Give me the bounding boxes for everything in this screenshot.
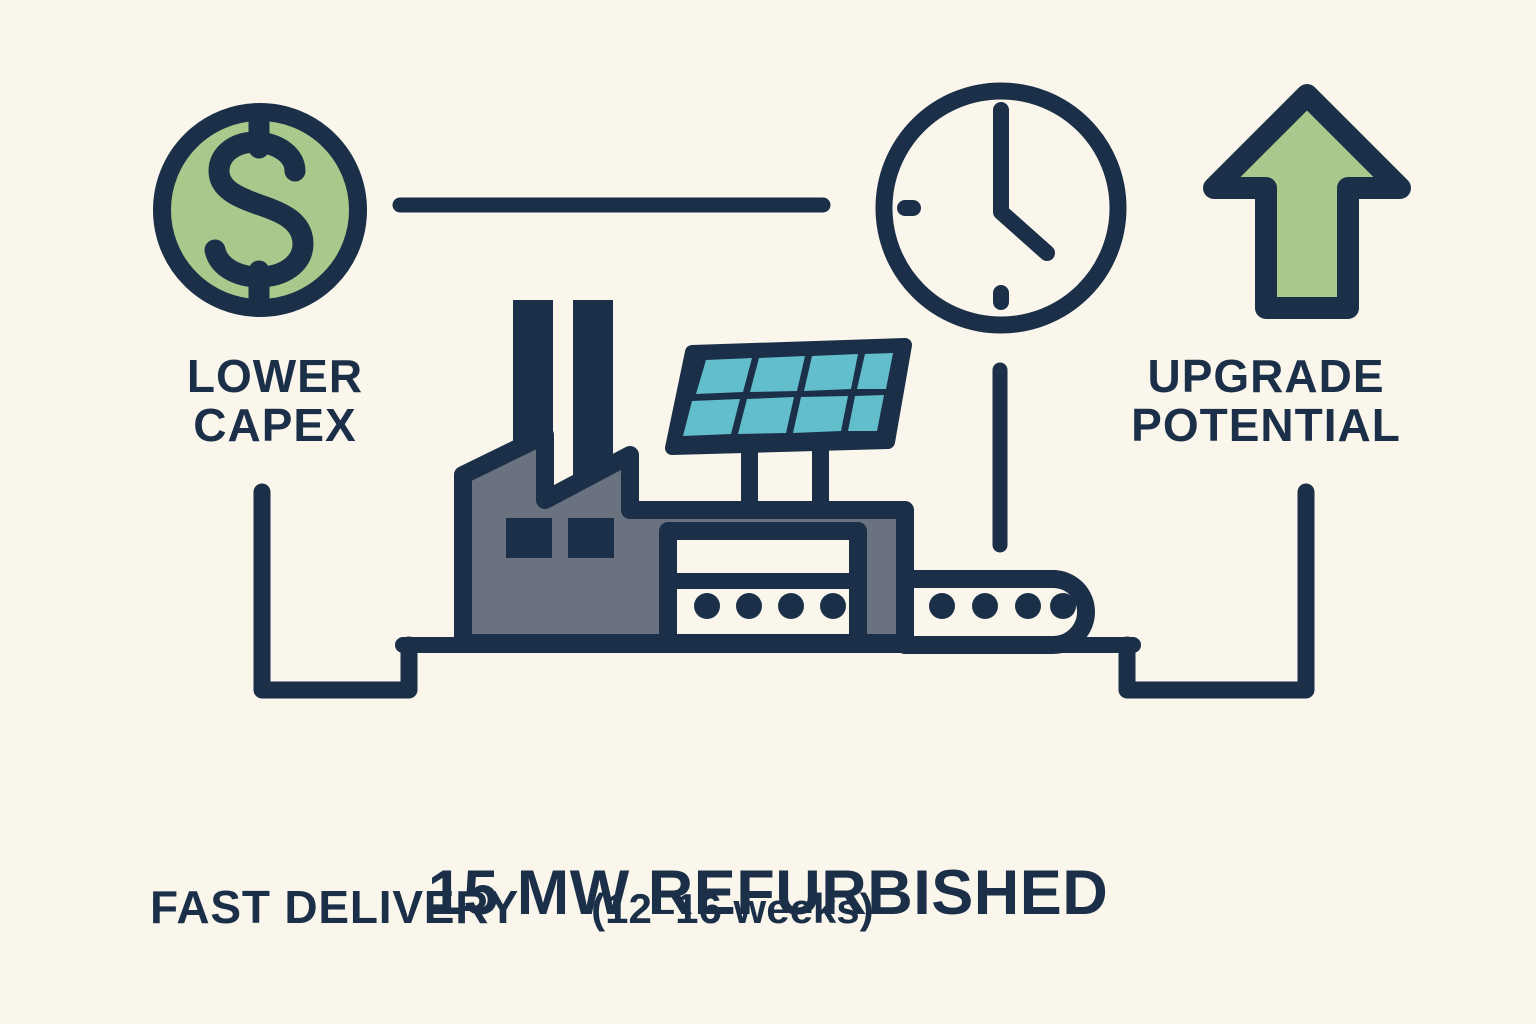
page-title: 15 MW REFURBISHED SOLAR MODULE LINE <box>0 712 1536 1024</box>
infographic-poster: LOWER CAPEX UPGRADE POTENTIAL 15 MW REFU… <box>0 0 1536 1024</box>
solar-panel-icon <box>672 345 905 518</box>
bracket-right <box>1127 492 1306 690</box>
delivery-window-note: (12–16 weeks) <box>591 885 874 933</box>
fast-delivery-label: FAST DELIVERY <box>150 880 519 934</box>
conveyor-roller <box>820 593 846 619</box>
bracket-left <box>262 492 409 690</box>
up-arrow-icon <box>1214 95 1400 308</box>
conveyor-roller <box>929 593 955 619</box>
conveyor-roller <box>694 593 720 619</box>
conveyor-belt-outer-icon <box>905 579 1086 645</box>
conveyor-roller <box>1015 593 1041 619</box>
conveyor-roller <box>778 593 804 619</box>
conveyor-roller <box>1050 593 1076 619</box>
conveyor-roller <box>972 593 998 619</box>
conveyor-belt-icon <box>668 531 858 643</box>
footer-row: FAST DELIVERY (12–16 weeks) <box>150 880 874 934</box>
dollar-coin-icon <box>162 112 358 308</box>
conveyor-roller <box>736 593 762 619</box>
badge-label-lower-capex: LOWER CAPEX <box>55 352 495 450</box>
clock-icon <box>884 91 1118 325</box>
factory-window <box>506 518 552 558</box>
factory-window <box>568 518 614 558</box>
badge-label-upgrade-potential: UPGRADE POTENTIAL <box>1031 352 1501 450</box>
